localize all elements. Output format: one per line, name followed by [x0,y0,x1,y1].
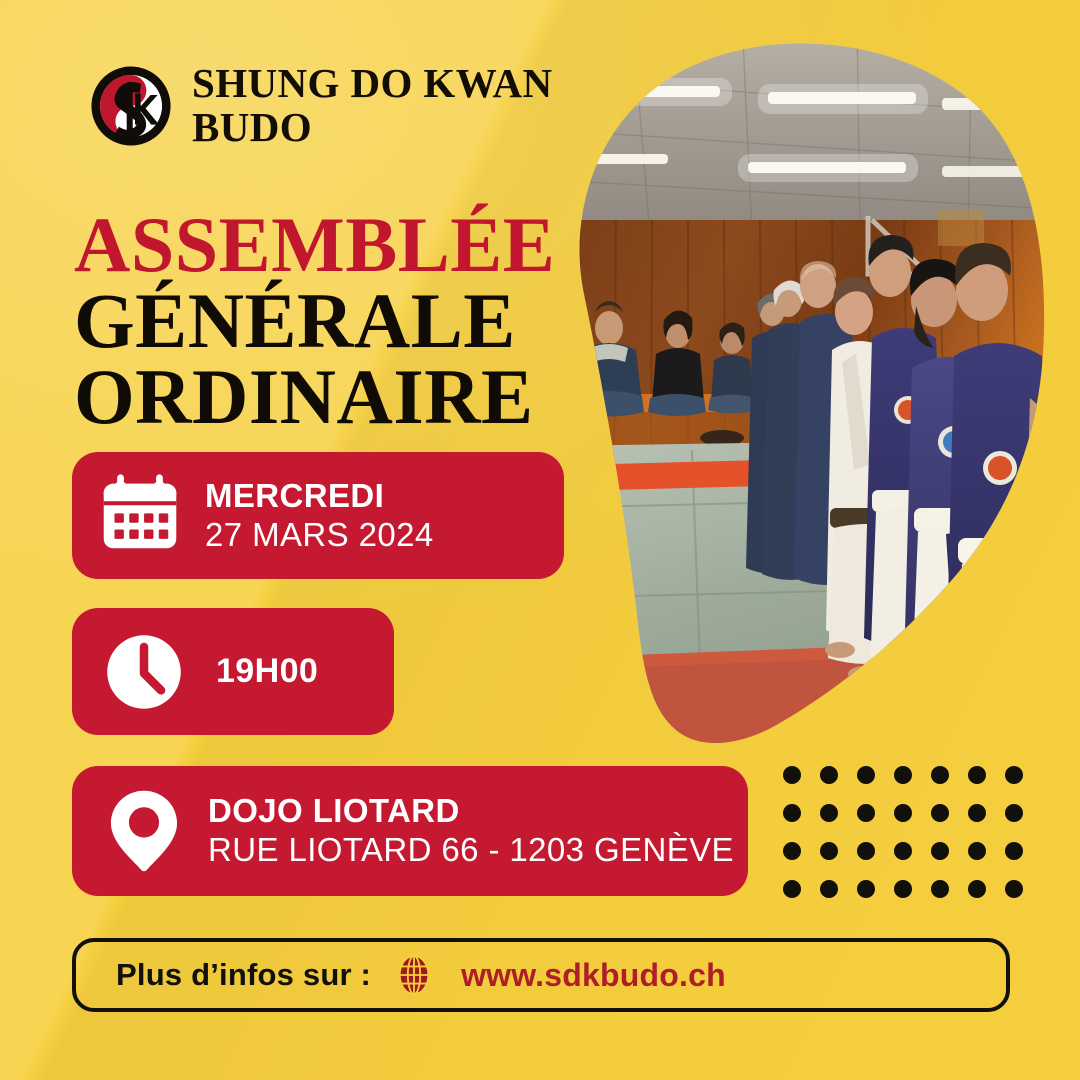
dot [968,880,986,898]
venue-address: RUE LIOTARD 66 - 1203 GENÈVE [208,831,734,870]
date-badge: MERCREDI 27 MARS 2024 [72,452,564,579]
dot [1005,766,1023,784]
dot [968,804,986,822]
dot [968,842,986,860]
brand-lockup: SHUNG DO KWAN BUDO [88,62,553,150]
dot [1005,842,1023,860]
brand-name: SHUNG DO KWAN BUDO [192,62,553,150]
time-badge: 19H00 [72,608,394,735]
dot [857,804,875,822]
headline-line-1: ASSEMBLÉE [74,207,555,283]
headline-line-3: ORDINAIRE [74,359,555,435]
calendar-icon [97,473,183,559]
location-badge-text: DOJO LIOTARD RUE LIOTARD 66 - 1203 GENÈV… [208,792,734,870]
dot [820,842,838,860]
dot [894,880,912,898]
dot [820,766,838,784]
map-pin-icon [98,785,190,877]
date-day: MERCREDI [205,477,434,516]
dot [894,804,912,822]
dot [820,880,838,898]
dot [783,880,801,898]
time-value: 19H00 [216,651,318,691]
dot-grid-decoration [783,766,1042,918]
date-value: 27 MARS 2024 [205,516,434,555]
dot [857,766,875,784]
headline-line-2: GÉNÉRALE [74,283,555,359]
dojo-photo [572,38,1046,750]
time-badge-text: 19H00 [216,651,318,691]
dot [783,766,801,784]
globe-icon [393,954,435,996]
more-info-bar[interactable]: Plus d’infos sur : www.sdkbudo.ch [72,938,1010,1012]
venue-name: DOJO LIOTARD [208,792,734,831]
dot [857,880,875,898]
dot [857,842,875,860]
dot [783,804,801,822]
dot [820,804,838,822]
date-badge-text: MERCREDI 27 MARS 2024 [205,477,434,555]
dot [1005,804,1023,822]
location-badge: DOJO LIOTARD RUE LIOTARD 66 - 1203 GENÈV… [72,766,748,896]
website-url[interactable]: www.sdkbudo.ch [461,957,726,994]
clock-icon [102,630,186,714]
dot [783,842,801,860]
dot [894,766,912,784]
dot [931,804,949,822]
dot [931,842,949,860]
page-title: ASSEMBLÉE GÉNÉRALE ORDINAIRE [74,207,555,434]
poster-canvas: SHUNG DO KWAN BUDO ASSEMBLÉE GÉNÉRALE OR… [0,0,1080,1080]
dot [1005,880,1023,898]
dot [968,766,986,784]
sdk-circle-logo-icon [88,63,174,149]
more-info-label: Plus d’infos sur : [116,957,371,993]
dot [931,880,949,898]
dot [931,766,949,784]
dot [894,842,912,860]
